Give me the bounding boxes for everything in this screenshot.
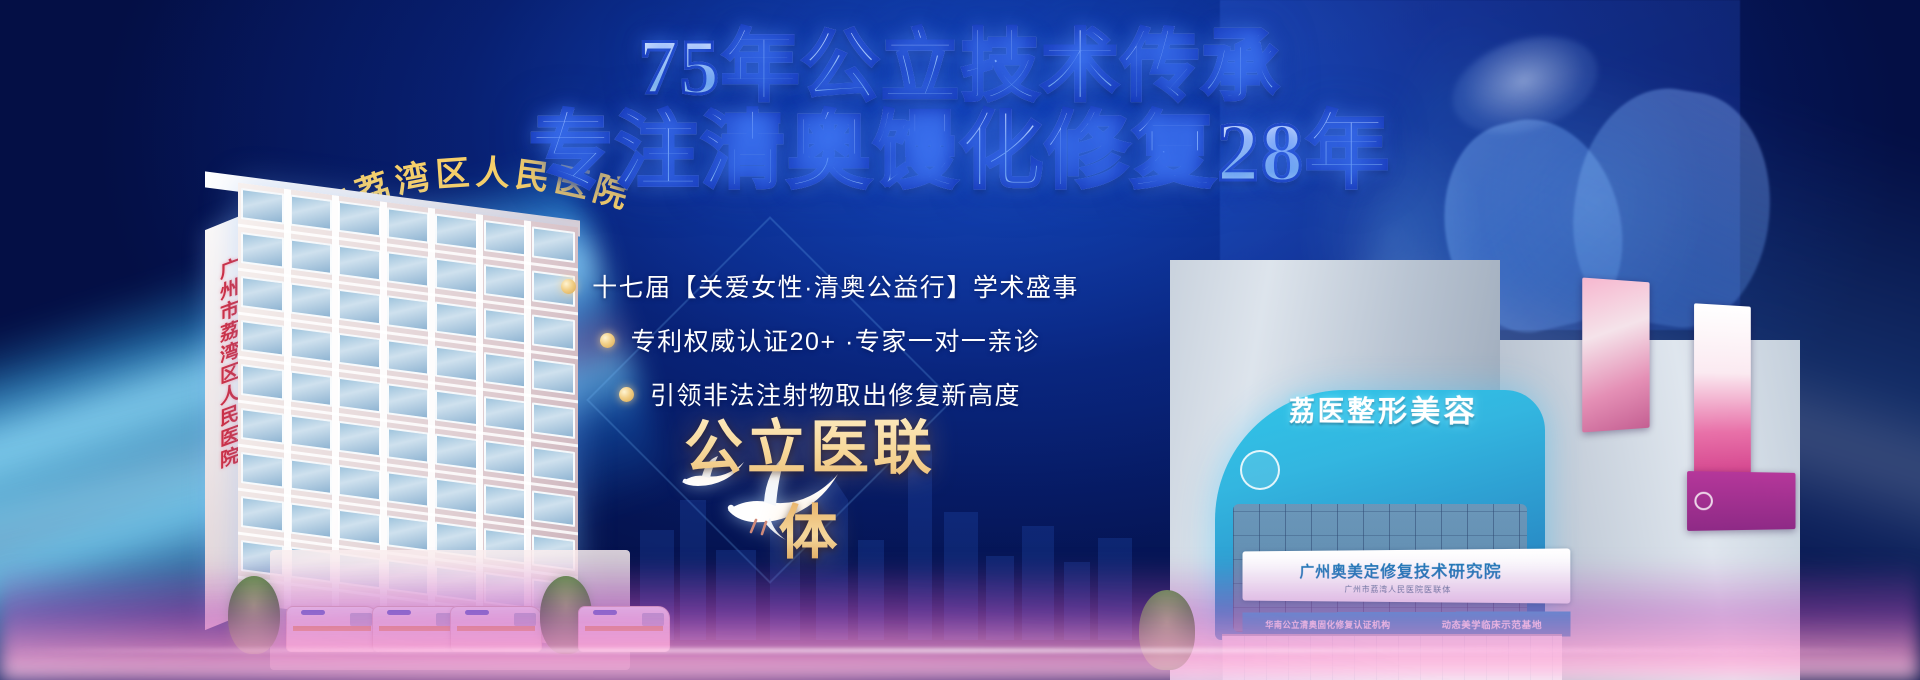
bullet-dot-icon bbox=[619, 387, 634, 402]
bullet-list: 十七届【关爱女性·清奥公益行】学术盛事 专利权威认证20+ ·专家一对一亲诊 引… bbox=[500, 268, 1140, 412]
bullet-item-1: 十七届【关爱女性·清奥公益行】学术盛事 bbox=[561, 268, 1079, 304]
bullet-text-2: 专利权威认证20+ ·专家一对一亲诊 bbox=[631, 322, 1041, 358]
promo-banner: 广州市荔湾区人民医院 广州市荔湾区人民医院 bbox=[0, 0, 1920, 680]
horizon-light-line bbox=[0, 649, 1920, 652]
bullet-dot-icon bbox=[600, 333, 615, 348]
bullet-text-1: 十七届【关爱女性·清奥公益行】学术盛事 bbox=[592, 268, 1079, 304]
bullet-text-3: 引领非法注射物取出修复新高度 bbox=[650, 376, 1021, 412]
bullet-item-2: 专利权威认证20+ ·专家一对一亲诊 bbox=[600, 322, 1041, 358]
ad-poster-models bbox=[1582, 278, 1649, 433]
bullet-item-3: 引领非法注射物取出修复新高度 bbox=[619, 376, 1021, 412]
hospital-vertical-sign: 广州市荔湾区人民医院 bbox=[210, 255, 240, 476]
ad-poster-portrait bbox=[1694, 303, 1751, 476]
bottom-glow-band bbox=[0, 560, 1920, 680]
clinic-top-sign: 荔医整形美容 bbox=[1247, 377, 1536, 441]
bullet-dot-icon bbox=[561, 279, 576, 294]
